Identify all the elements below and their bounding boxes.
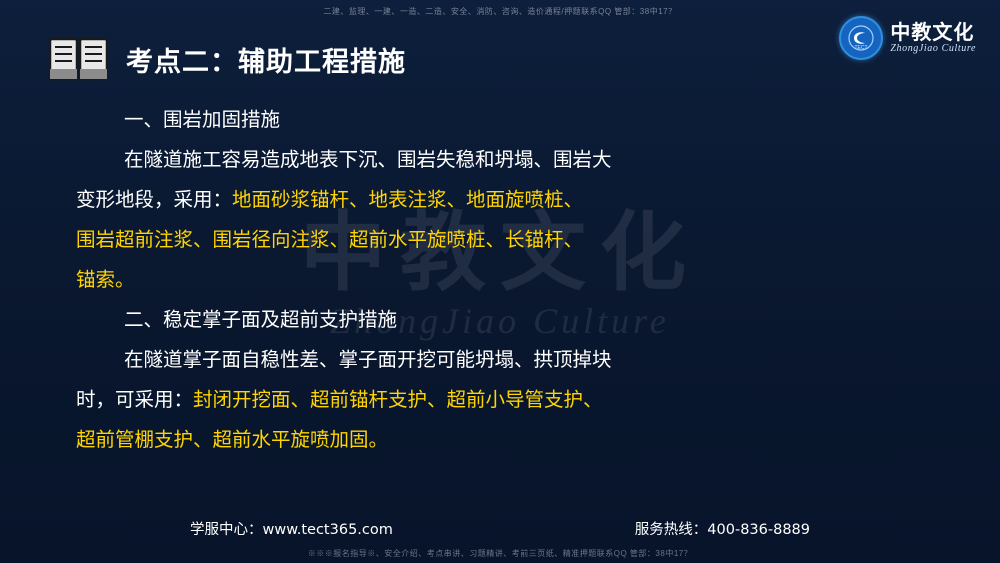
para-2-line-2: 时，可采用：封闭开挖面、超前锚杆支护、超前小导管支护、 xyxy=(76,380,936,420)
footer-hotline: 服务热线：400-836-8889 xyxy=(635,518,810,539)
para-1-line-4-run-0: 锚索。 xyxy=(76,268,135,291)
heading-2: 二、稳定掌子面及超前支护措施 xyxy=(76,300,936,340)
para-1-line-1-run-0: 在隧道施工容易造成地表下沉、围岩失稳和坍塌、围岩大 xyxy=(124,148,612,171)
para-1-line-3: 围岩超前注浆、围岩径向注浆、超前水平旋喷桩、长锚杆、 xyxy=(76,220,936,260)
slide-body: 一、围岩加固措施在隧道施工容易造成地表下沉、围岩失稳和坍塌、围岩大变形地段，采用… xyxy=(76,100,936,460)
para-2-line-1: 在隧道掌子面自稳性差、掌子面开挖可能坍塌、拱顶掉块 xyxy=(76,340,936,380)
logo-text-en: ZhongJiao Culture xyxy=(890,43,976,54)
para-2-line-3: 超前管棚支护、超前水平旋喷加固。 xyxy=(76,420,936,460)
para-1-line-4: 锚索。 xyxy=(76,260,936,300)
para-1-line-1: 在隧道施工容易造成地表下沉、围岩失稳和坍塌、围岩大 xyxy=(76,140,936,180)
para-1-line-2-run-0: 变形地段，采用： xyxy=(76,188,232,211)
marquee-bottom: ※※※报名指导※、安全介绍、考点串讲、习题精讲、考前三页纸、精准押题联系QQ 管… xyxy=(0,548,1000,559)
para-2-line-3-run-0: 超前管棚支护、超前水平旋喷加固。 xyxy=(76,428,388,451)
page-title: 考点二：辅助工程措施 xyxy=(126,40,406,79)
brand-logo: TECT 中教文化 ZhongJiao Culture xyxy=(839,16,976,60)
logo-circle-icon: TECT xyxy=(839,16,883,60)
footer: 学服中心：www.tect365.com 服务热线：400-836-8889 xyxy=(0,518,1000,539)
book-icon xyxy=(48,36,110,82)
heading-1-run-0: 一、围岩加固措施 xyxy=(124,108,280,131)
para-2-line-1-run-0: 在隧道掌子面自稳性差、掌子面开挖可能坍塌、拱顶掉块 xyxy=(124,348,612,371)
para-1-line-3-run-0: 围岩超前注浆、围岩径向注浆、超前水平旋喷桩、长锚杆、 xyxy=(76,228,583,251)
svg-text:TECT: TECT xyxy=(855,45,868,51)
logo-text-cn: 中教文化 xyxy=(890,22,976,43)
slide-title-row: 考点二：辅助工程措施 xyxy=(48,36,406,82)
heading-1: 一、围岩加固措施 xyxy=(76,100,936,140)
para-1-line-2-run-1: 地面砂浆锚杆、地表注浆、地面旋喷桩、 xyxy=(232,188,583,211)
footer-service-center: 学服中心：www.tect365.com xyxy=(190,518,393,539)
slide: 二建、监理、一建、一造、二造、安全、消防、咨询、造价通程/押题联系QQ 管部：3… xyxy=(0,0,1000,563)
para-1-line-2: 变形地段，采用：地面砂浆锚杆、地表注浆、地面旋喷桩、 xyxy=(76,180,936,220)
para-2-line-2-run-1: 封闭开挖面、超前锚杆支护、超前小导管支护、 xyxy=(193,388,603,411)
heading-2-run-0: 二、稳定掌子面及超前支护措施 xyxy=(124,308,397,331)
para-2-line-2-run-0: 时，可采用： xyxy=(76,388,193,411)
